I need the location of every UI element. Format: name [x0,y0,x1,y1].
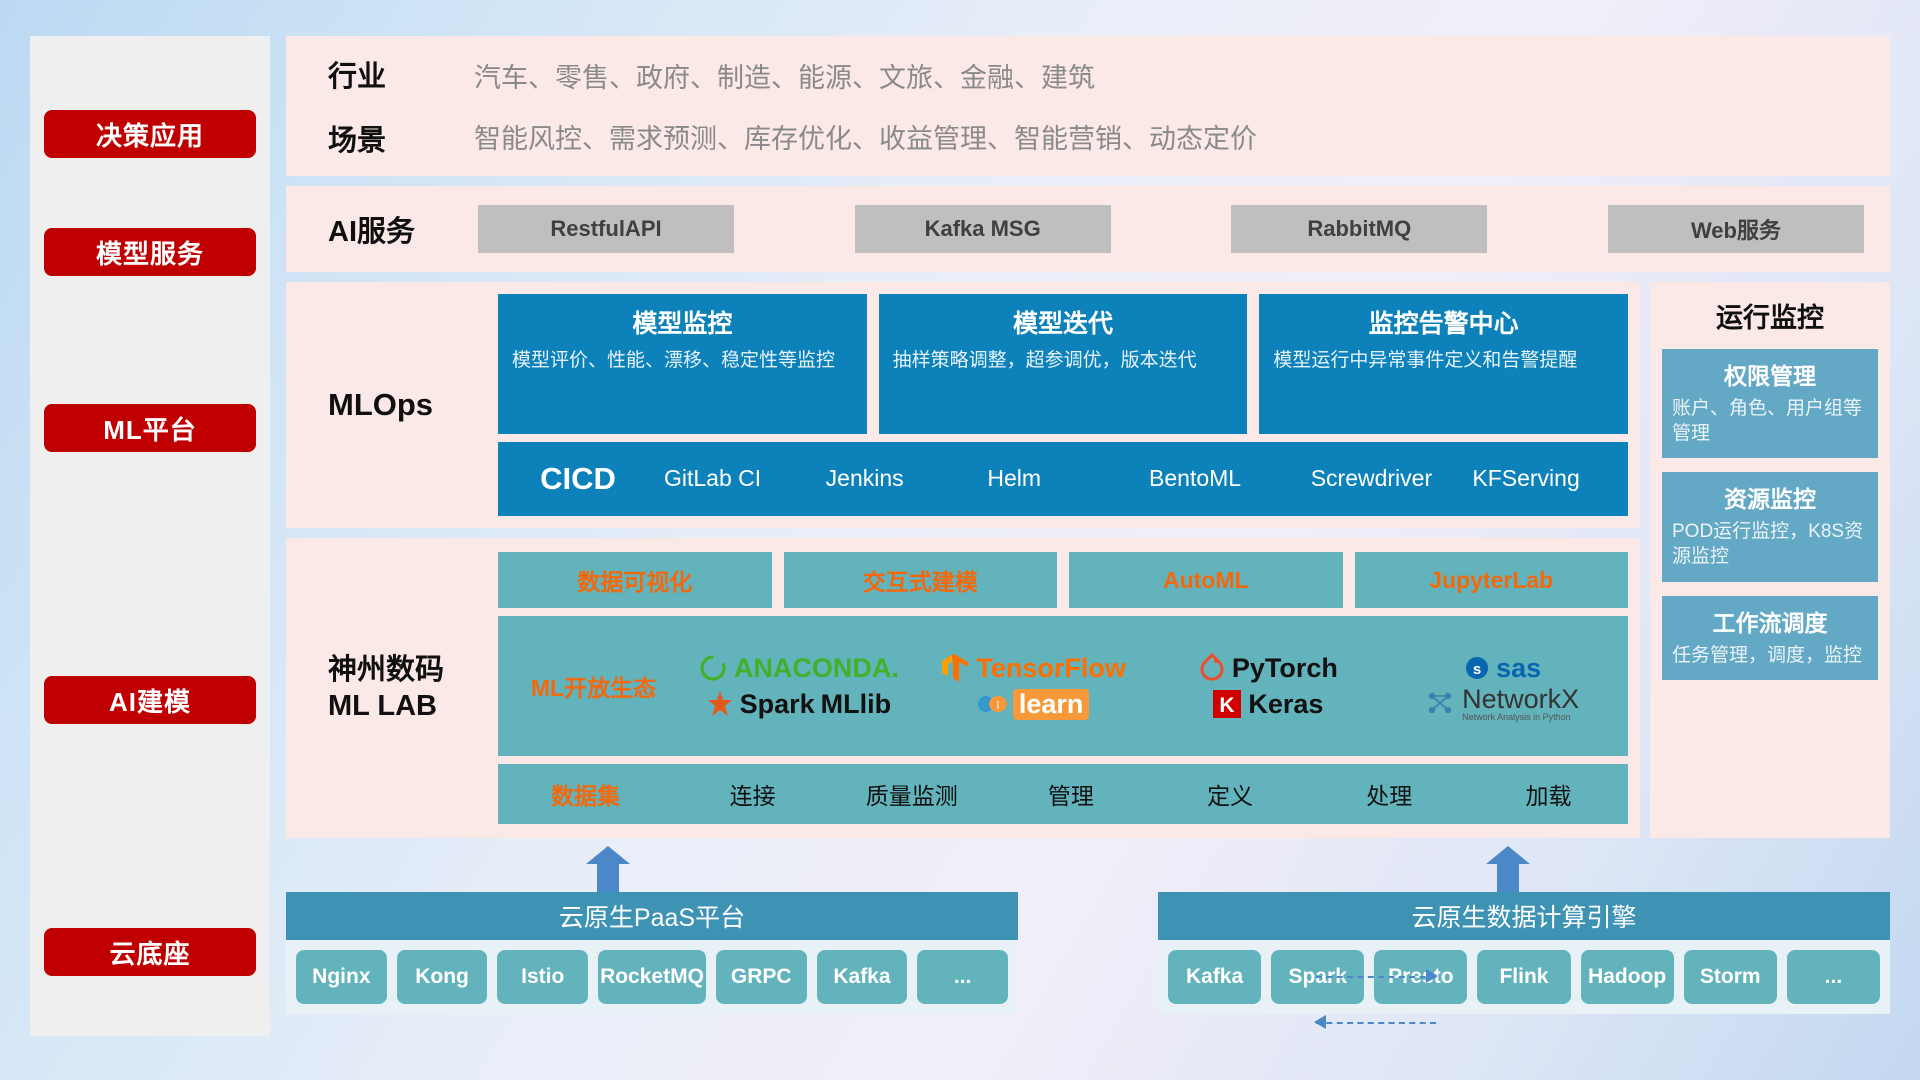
lab-tool-interactive-modeling[interactable]: 交互式建模 [784,552,1058,608]
ml-lab-content: 数据可视化 交互式建模 AutoML JupyterLab ML开放生态 [498,552,1628,824]
pytorch-logo: PyTorch [1198,653,1338,684]
chip-kafka[interactable]: Kafka [817,950,908,1004]
card-desc: 模型运行中异常事件定义和告警提醒 [1273,348,1614,374]
dataset-item-load[interactable]: 加载 [1469,777,1628,811]
spark-logo-text: Spark [740,689,815,720]
industry-labels: 行业 场景 [328,53,448,159]
lab-tool-automl[interactable]: AutoML [1069,552,1343,608]
cicd-item-jenkins[interactable]: Jenkins [820,466,982,491]
card-title: 模型监控 [512,304,853,340]
pytorch-icon [1198,653,1226,683]
anaconda-logo: ANACONDA. [698,653,899,684]
card-title: 工作流调度 [1672,604,1868,638]
monitor-card-resource[interactable]: 资源监控 POD运行监控，K8S资源监控 [1662,472,1878,581]
cicd-title: CICD [498,461,658,497]
ml-lab-label-line2: ML LAB [328,688,498,724]
cloud-paas-title: 云原生PaaS平台 [286,892,1018,940]
ai-service-label: AI服务 [328,208,478,250]
cloud-base-section: 云原生PaaS平台 Nginx Kong Istio RocketMQ GRPC… [286,848,1890,1036]
tensorflow-logo-text: TensorFlow [976,653,1126,684]
monitor-card-permission[interactable]: 权限管理 账户、角色、用户组等管理 [1662,349,1878,458]
chip-rocketmq[interactable]: RocketMQ [598,950,706,1004]
mlops-content: 模型监控 模型评价、性能、漂移、稳定性等监控 模型迭代 抽样策略调整，超参调优，… [498,294,1628,516]
chip-kafka-right[interactable]: Kafka [1168,950,1261,1004]
content-column: 行业 场景 汽车、零售、政府、制造、能源、文旅、金融、建筑 智能风控、需求预测、… [286,36,1890,1036]
keras-icon: K [1212,689,1242,719]
card-desc: 模型评价、性能、漂移、稳定性等监控 [512,348,853,374]
middle-section: MLOps 模型监控 模型评价、性能、漂移、稳定性等监控 模型迭代 抽样策略调整… [286,282,1890,838]
cloud-data-engine-column: 云原生数据计算引擎 Kafka Spark Presto Flink Hadoo… [1158,892,1890,1036]
card-title: 权限管理 [1672,357,1868,391]
ml-lab-tools: 数据可视化 交互式建模 AutoML JupyterLab [498,552,1628,608]
rail-tag-ml-platform[interactable]: ML平台 [44,404,256,452]
cicd-item-helm[interactable]: Helm [981,466,1143,491]
rail-tag-decision-app[interactable]: 决策应用 [44,110,256,158]
monitor-card-workflow[interactable]: 工作流调度 任务管理，调度，监控 [1662,596,1878,681]
cicd-item-screwdriver[interactable]: Screwdriver [1305,466,1467,491]
industry-values: 汽车、零售、政府、制造、能源、文旅、金融、建筑 智能风控、需求预测、库存优化、收… [448,56,1257,156]
ai-service-band: AI服务 RestfulAPI Kafka MSG RabbitMQ Web服务 [286,186,1890,272]
networkx-logo: NetworkX Network Analysis in Python [1426,686,1579,722]
middle-left: MLOps 模型监控 模型评价、性能、漂移、稳定性等监控 模型迭代 抽样策略调整… [286,282,1640,838]
svg-text:s: s [1473,661,1481,678]
dataset-item-manage[interactable]: 管理 [991,777,1150,811]
dataset-item-process[interactable]: 处理 [1310,777,1469,811]
chip-storm[interactable]: Storm [1684,950,1777,1004]
ecosystem-logos: ANACONDA. TensorFlow [681,650,1620,722]
industry-scenario-band: 行业 场景 汽车、零售、政府、制造、能源、文旅、金融、建筑 智能风控、需求预测、… [286,36,1890,176]
sas-logo: s sas [1464,653,1541,684]
keras-logo: K Keras [1212,689,1323,720]
industry-value: 汽车、零售、政府、制造、能源、文旅、金融、建筑 [474,56,1257,95]
pytorch-logo-text: PyTorch [1232,653,1338,684]
scenario-label: 场景 [328,117,448,159]
cloud-paas-column: 云原生PaaS平台 Nginx Kong Istio RocketMQ GRPC… [286,892,1018,1036]
svg-text:l: l [997,700,999,712]
tensorflow-logo: TensorFlow [940,652,1126,684]
anaconda-icon [698,653,728,683]
cloud-data-engine-title: 云原生数据计算引擎 [1158,892,1890,940]
industry-label: 行业 [328,53,448,95]
mlops-band: MLOps 模型监控 模型评价、性能、漂移、稳定性等监控 模型迭代 抽样策略调整… [286,282,1640,528]
lab-tool-data-visualization[interactable]: 数据可视化 [498,552,772,608]
ai-service-buttons: RestfulAPI Kafka MSG RabbitMQ Web服务 [478,205,1864,253]
chip-istio[interactable]: Istio [497,950,588,1004]
spark-star-icon [706,690,734,718]
tensorflow-icon [940,652,970,684]
ml-open-ecosystem-label: ML开放生态 [506,669,681,703]
dataset-title: 数据集 [498,777,673,811]
dataset-items: 连接 质量监测 管理 定义 处理 加载 [673,777,1628,811]
cicd-items: GitLab CI Jenkins Helm BentoML Screwdriv… [658,466,1628,491]
chip-flink[interactable]: Flink [1477,950,1570,1004]
runtime-monitoring-title: 运行监控 [1716,296,1824,335]
cloud-gap [1028,892,1148,1036]
up-arrow-right-icon [1486,846,1530,892]
architecture-diagram: 决策应用 模型服务 ML平台 AI建模 云底座 行业 场景 汽车、零售、政府、制… [30,36,1890,1036]
keras-logo-text: Keras [1248,689,1323,720]
card-title: 监控告警中心 [1273,304,1614,340]
runtime-monitoring-panel: 运行监控 权限管理 账户、角色、用户组等管理 资源监控 POD运行监控，K8S资… [1650,282,1890,838]
networkx-logo-text: NetworkX [1462,686,1579,713]
mlops-card-model-monitoring[interactable]: 模型监控 模型评价、性能、漂移、稳定性等监控 [498,294,867,434]
ml-lab-label-line1: 神州数码 [328,652,498,688]
cicd-item-gitlab-ci[interactable]: GitLab CI [658,466,820,491]
svg-text:K: K [1220,694,1235,717]
cloud-data-engine-chips: Kafka Spark Presto Flink Hadoop Storm ..… [1158,940,1890,1014]
card-desc: 任务管理，调度，监控 [1672,644,1868,669]
card-title: 资源监控 [1672,480,1868,514]
cloud-paas-chips: Nginx Kong Istio RocketMQ GRPC Kafka ... [286,940,1018,1014]
rail-tag-cloud-base[interactable]: 云底座 [44,928,256,976]
rail-tag-ai-modeling[interactable]: AI建模 [44,676,256,724]
ai-button-web-service[interactable]: Web服务 [1608,205,1864,253]
chip-more-left[interactable]: ... [917,950,1008,1004]
ml-lab-band: 神州数码 ML LAB 数据可视化 交互式建模 AutoML JupyterLa… [286,538,1640,838]
mlops-card-alert-center[interactable]: 监控告警中心 模型运行中异常事件定义和告警提醒 [1259,294,1628,434]
chip-kong[interactable]: Kong [397,950,488,1004]
mllib-logo-text: MLlib [821,689,891,720]
up-arrow-left-icon [586,846,630,892]
lab-tool-jupyterlab[interactable]: JupyterLab [1355,552,1629,608]
mlops-cards: 模型监控 模型评价、性能、漂移、稳定性等监控 模型迭代 抽样策略调整，超参调优，… [498,294,1628,434]
mlops-label: MLOps [328,387,498,423]
dataset-item-connect[interactable]: 连接 [673,777,832,811]
ai-button-restfulapi[interactable]: RestfulAPI [478,205,734,253]
scikit-learn-logo: l learn [977,689,1090,720]
scikit-learn-logo-text: learn [1013,689,1090,720]
anaconda-logo-text: ANACONDA. [734,653,899,684]
chip-grpc[interactable]: GRPC [716,950,807,1004]
sas-logo-text: sas [1496,653,1541,684]
networkx-icon [1426,690,1456,718]
cicd-item-bentoml[interactable]: BentoML [1143,466,1305,491]
ml-open-ecosystem: ML开放生态 ANACONDA. [498,616,1628,756]
ai-button-rabbitmq[interactable]: RabbitMQ [1231,205,1487,253]
mlops-card-model-iteration[interactable]: 模型迭代 抽样策略调整，超参调优，版本迭代 [879,294,1248,434]
layer-rail: 决策应用 模型服务 ML平台 AI建模 云底座 [30,36,270,1036]
networkx-logo-subtext: Network Analysis in Python [1462,713,1579,722]
bidirectional-connector [1316,968,1436,1038]
scikit-learn-icon: l [977,691,1007,717]
sas-icon: s [1464,655,1490,681]
ml-lab-label: 神州数码 ML LAB [328,652,498,725]
rail-tag-model-service[interactable]: 模型服务 [44,228,256,276]
dataset-item-quality[interactable]: 质量监测 [832,777,991,811]
cicd-bar: CICD GitLab CI Jenkins Helm BentoML Scre… [498,442,1628,516]
cicd-item-kfserving[interactable]: KFServing [1466,466,1628,491]
chip-nginx[interactable]: Nginx [296,950,387,1004]
card-desc: 抽样策略调整，超参调优，版本迭代 [893,348,1234,374]
ai-button-kafka-msg[interactable]: Kafka MSG [855,205,1111,253]
scenario-value: 智能风控、需求预测、库存优化、收益管理、智能营销、动态定价 [474,117,1257,156]
card-title: 模型迭代 [893,304,1234,340]
spark-mllib-logo: Spark MLlib [706,689,892,720]
card-desc: 账户、角色、用户组等管理 [1672,397,1868,446]
chip-hadoop[interactable]: Hadoop [1581,950,1674,1004]
dataset-row: 数据集 连接 质量监测 管理 定义 处理 加载 [498,764,1628,824]
chip-more-right[interactable]: ... [1787,950,1880,1004]
card-desc: POD运行监控，K8S资源监控 [1672,520,1868,569]
dataset-item-define[interactable]: 定义 [1151,777,1310,811]
